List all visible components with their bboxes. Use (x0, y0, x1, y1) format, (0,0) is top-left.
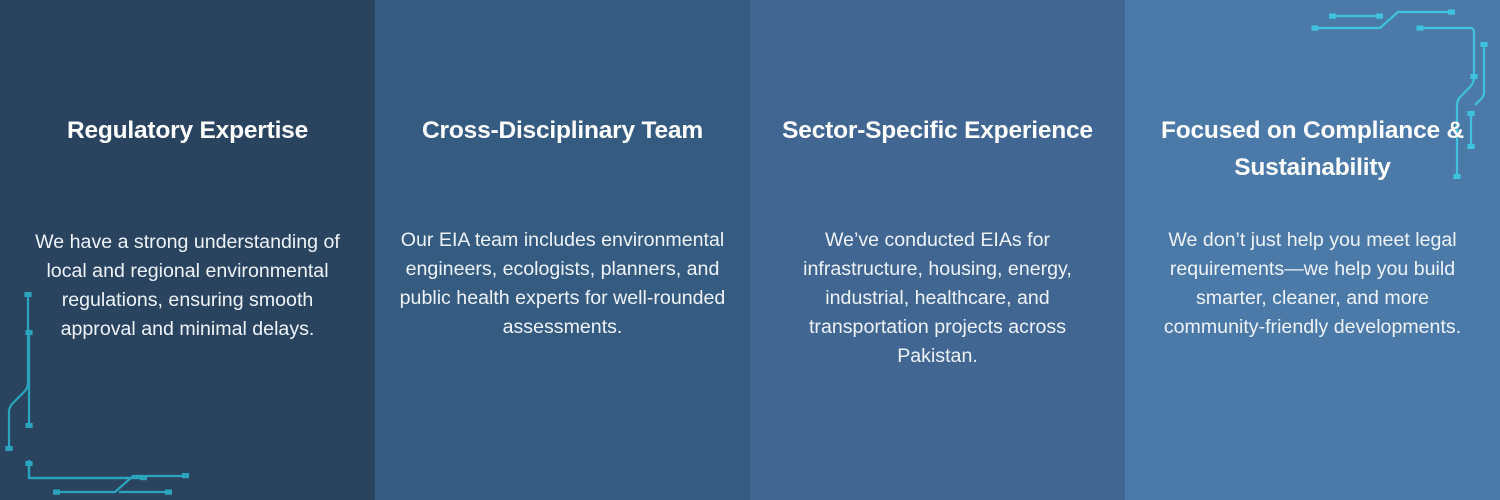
panel-content: Cross-Disciplinary Team Our EIA team inc… (389, 0, 736, 500)
feature-panel-regulatory-expertise: Regulatory Expertise We have a strong un… (0, 0, 375, 500)
panel-title: Regulatory Expertise (14, 112, 361, 149)
panel-content: Regulatory Expertise We have a strong un… (14, 0, 361, 500)
panel-body-text: We have a strong understanding of local … (14, 228, 361, 344)
feature-panel-cross-disciplinary-team: Cross-Disciplinary Team Our EIA team inc… (375, 0, 750, 500)
feature-panel-strip: Regulatory Expertise We have a strong un… (0, 0, 1500, 500)
panel-title: Focused on Compliance & Sustainability (1139, 112, 1486, 186)
panel-body-text: We don’t just help you meet legal requir… (1139, 226, 1486, 342)
panel-title: Cross-Disciplinary Team (389, 112, 736, 149)
feature-panel-focused-on-compliance-sustainability: Focused on Compliance & Sustainability W… (1125, 0, 1500, 500)
panel-title: Sector-Specific Experience (764, 112, 1111, 149)
feature-panel-sector-specific-experience: Sector-Specific Experience We’ve conduct… (750, 0, 1125, 500)
panel-content: Focused on Compliance & Sustainability W… (1139, 0, 1486, 500)
panel-body-text: Our EIA team includes environmental engi… (389, 226, 736, 342)
panel-content: Sector-Specific Experience We’ve conduct… (764, 0, 1111, 500)
panel-body-text: We’ve conducted EIAs for infrastructure,… (764, 226, 1111, 371)
